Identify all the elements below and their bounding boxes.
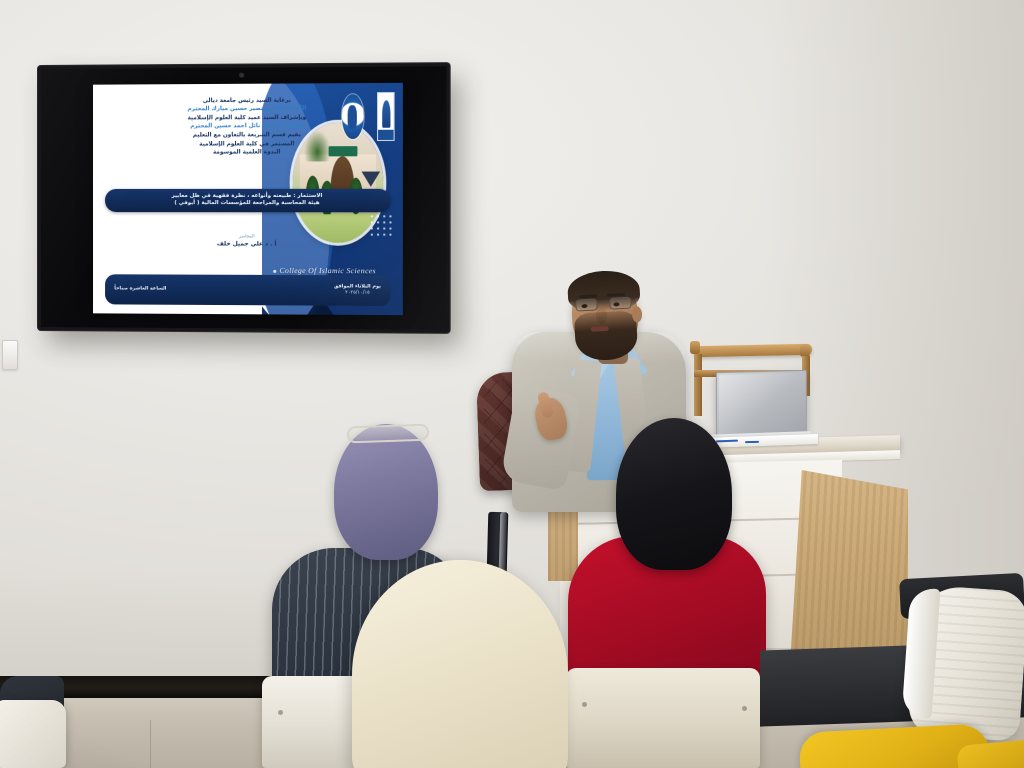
white-chair-edge: [0, 700, 66, 768]
slide-college-name: College Of Islamic Sciences: [273, 266, 394, 276]
slide-footer-date-value: ٢٠٢٥/١٠/١٥: [334, 290, 381, 297]
presentation-slide: College Of Islamic Sciences ٢٠٢٥ برعاية …: [93, 83, 403, 315]
slide-presenter-name: أ . د علي جميل خلف: [117, 241, 377, 250]
speaker-head: [570, 274, 640, 355]
slide-title-line: هيئة المحاسبة والمراجعة للمؤسسات المالية…: [111, 200, 384, 208]
slide-title-band: الاستثمار : طبيعته وأنواعه ، نظرة فقهية …: [105, 189, 390, 213]
wall-outlet-plate: [2, 340, 18, 370]
tv-camera-icon: [239, 73, 244, 78]
slide-footer-date: يوم الثلاثاء الموافق ٢٠٢٥/١٠/١٥: [334, 284, 381, 297]
wall-mounted-tv[interactable]: College Of Islamic Sciences ٢٠٢٥ برعاية …: [38, 63, 450, 333]
slide-footer-band: يوم الثلاثاء الموافق ٢٠٢٥/١٠/١٥ الساعة ا…: [105, 275, 390, 306]
college-name-text: College Of Islamic Sciences: [280, 266, 376, 275]
bullet-icon: [273, 270, 276, 273]
slide-footer-time: الساعة العاشرة صباحاً: [114, 286, 166, 293]
wooden-chair-knob: [690, 341, 700, 354]
pen-icon: [745, 441, 759, 443]
desk-side-wood-panel: [790, 470, 908, 665]
attendee-chair-back: [566, 668, 760, 768]
lecture-room-scene: College Of Islamic Sciences ٢٠٢٥ برعاية …: [0, 0, 1024, 768]
chair-bolt: [742, 706, 747, 711]
wooden-chair-post: [694, 354, 702, 416]
chair-bolt: [278, 710, 283, 715]
slide-header-line: الندوة العلمية الموسومة: [108, 148, 387, 157]
attendee-glasses-icon: [347, 424, 430, 444]
attendee-black-hijab: [616, 418, 732, 570]
slide-footer-time-value: الساعة العاشرة صباحاً: [114, 286, 166, 293]
dot-grid-decoration: [369, 213, 392, 235]
laptop-screen[interactable]: [716, 370, 807, 439]
slide-presenter-block: المحاضر أ . د علي جميل خلف: [117, 234, 377, 249]
chair-bolt: [582, 702, 587, 707]
speaker-mouth: [591, 326, 609, 332]
triangle-decoration-icon: [362, 171, 381, 186]
eyeglass-bridge: [597, 303, 609, 305]
attendee-purple-hijab: [334, 424, 438, 560]
laptop-screen-glare: [719, 373, 804, 436]
floor-tile-seam: [150, 720, 151, 768]
slide-header-block: برعاية السيد رئيس جامعة ديالى الأستاذ ال…: [108, 96, 387, 158]
